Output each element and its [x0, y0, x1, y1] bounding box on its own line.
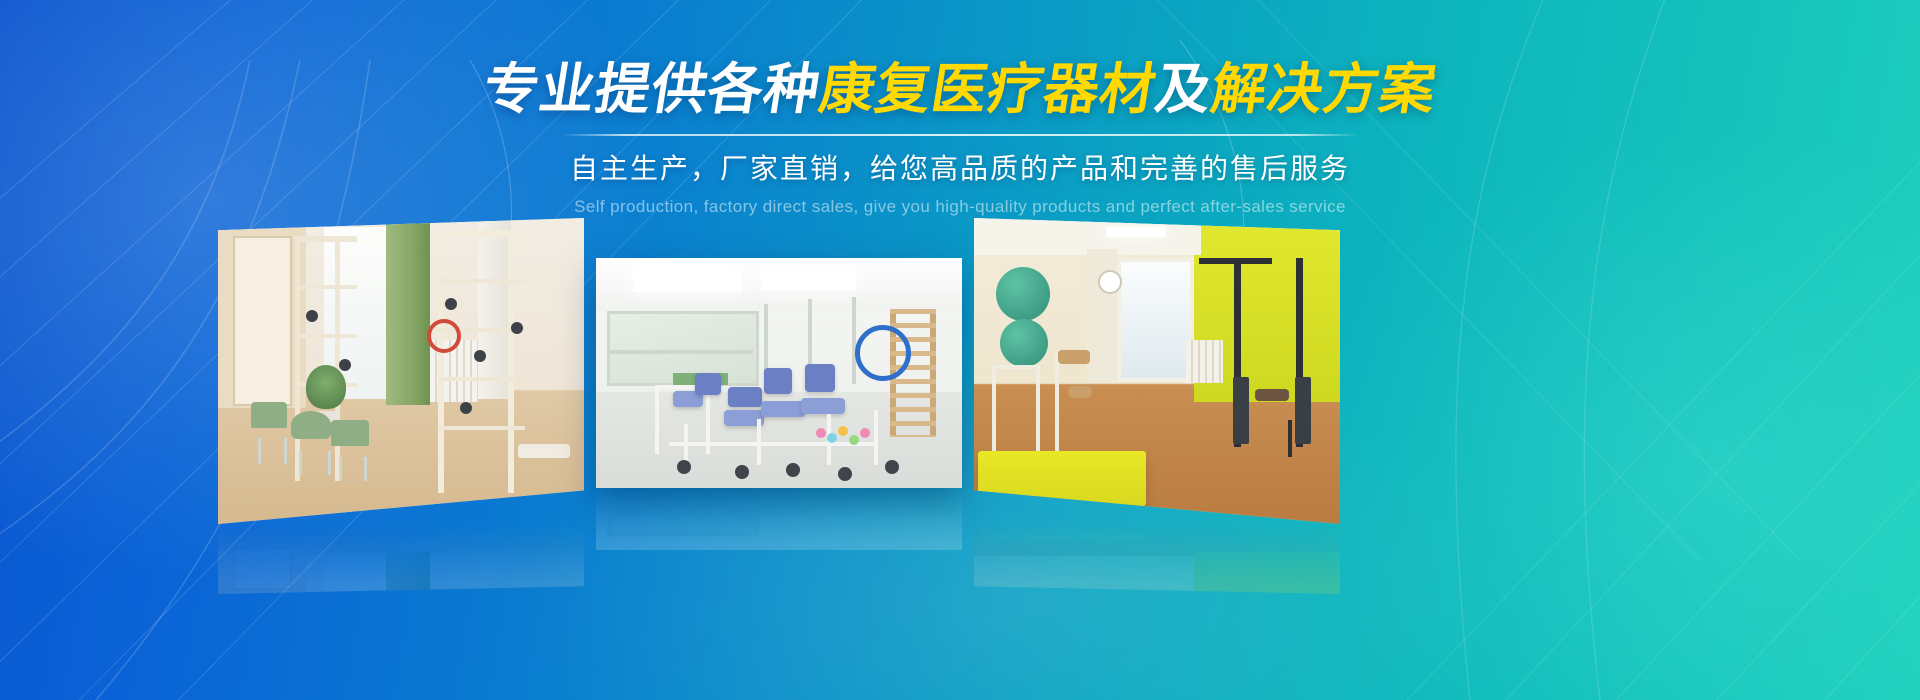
rehab-room-beige-wood-frames — [218, 218, 584, 524]
photo-card-left[interactable] — [218, 218, 584, 524]
banner-text-block: 专业提供各种康复医疗器材及解决方案 自主生产，厂家直销，给您高品质的产品和完善的… — [0, 58, 1920, 218]
banner-headline: 专业提供各种康复医疗器材及解决方案 — [479, 58, 1441, 120]
photo-reflection-center — [596, 488, 962, 550]
photo-card-right[interactable] — [974, 218, 1340, 524]
headline-segment-3: 及 — [1151, 58, 1217, 120]
photo-reflection-right — [974, 524, 1340, 594]
rehab-hall-blue-treatment-chairs — [596, 258, 962, 488]
banner-subtitle-cn: 自主生产，厂家直销，给您高品质的产品和完善的售后服务 — [0, 152, 1920, 186]
rehab-gym-yellow-wall — [974, 218, 1340, 524]
promo-banner: 专业提供各种康复医疗器材及解决方案 自主生产，厂家直销，给您高品质的产品和完善的… — [0, 0, 1920, 700]
headline-segment-4: 解决方案 — [1207, 58, 1441, 120]
banner-subtitle-en: Self production, factory direct sales, g… — [0, 196, 1920, 218]
headline-divider — [560, 134, 1360, 136]
photo-reflection-left — [218, 524, 584, 594]
headline-segment-2: 康复医疗器材 — [815, 58, 1161, 120]
photo-card-center[interactable] — [596, 258, 962, 488]
headline-segment-1: 专业提供各种 — [479, 58, 825, 120]
